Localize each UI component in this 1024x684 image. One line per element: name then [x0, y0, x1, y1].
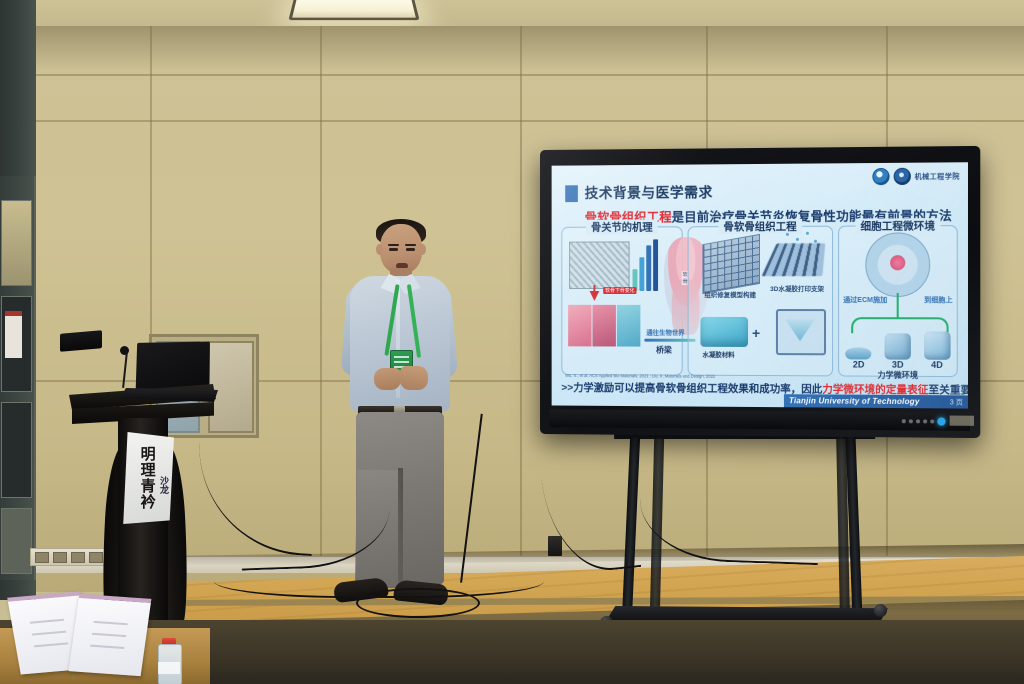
display-button[interactable] — [909, 419, 913, 423]
power-socket[interactable] — [35, 552, 49, 563]
ear — [419, 244, 426, 255]
display-control-buttons[interactable] — [902, 417, 946, 425]
eye — [406, 248, 415, 251]
badge-text-line — [394, 356, 409, 358]
printed-scaffold — [762, 243, 826, 276]
school-emblem-icon — [893, 168, 910, 185]
slide-title: 技术背景与医学需求 — [585, 182, 713, 203]
bar-chart-mini — [633, 239, 659, 291]
power-socket[interactable] — [53, 552, 67, 563]
power-indicator-icon[interactable] — [937, 417, 945, 425]
university-name: Tianjin University of Technology — [789, 396, 920, 406]
particle — [786, 233, 789, 236]
scaffold-lattice — [702, 234, 760, 294]
bar — [653, 239, 658, 291]
slide-footnote: Wu, X., et al. ACS Applied Bio Materials… — [565, 373, 715, 379]
eye — [389, 248, 398, 251]
stained-section-row — [568, 305, 640, 347]
plaque-sub-text: 沙龙 — [158, 476, 171, 494]
presenter — [336, 222, 460, 620]
bridge-top-label: 通往生物世界 — [646, 327, 684, 337]
card-text-line — [32, 631, 66, 636]
ear — [376, 244, 383, 255]
display-brand-label — [950, 416, 975, 426]
stained-section — [617, 305, 641, 347]
microenvironment-caption: 力学微环境 — [839, 369, 957, 381]
card-text-line — [92, 633, 126, 637]
panel-cell-microenvironment: 细胞工程微环境 通过ECM施加 到细胞上 — [838, 225, 958, 377]
title-accent-swatch — [565, 185, 578, 202]
panel-heading: 骨关节的机理 — [586, 219, 657, 234]
ecm-right-label: 到细胞上 — [924, 295, 953, 305]
shirt-torso — [350, 276, 450, 412]
hydrogel-block — [700, 317, 748, 347]
wall-shadow — [36, 26, 1024, 72]
hydrogel-caption: 水凝胶材料 — [702, 349, 734, 359]
ceiling-light-panel — [288, 0, 419, 20]
dimension-label-2d: 2D — [853, 359, 865, 369]
shelving-unit — [0, 176, 36, 580]
panel-tissue-engineering: 骨软骨组织工程 组织修复模型构建 3D水凝胶打印支架 — [688, 226, 833, 377]
dimension-label-3d: 3D — [892, 360, 904, 370]
particle — [806, 232, 809, 235]
eyebrow — [405, 244, 416, 246]
plus-sign: + — [752, 325, 760, 341]
university-emblem-icon — [872, 168, 889, 185]
cart-caster — [874, 604, 887, 617]
subchondral-bone-tag: 软骨下骨变化 — [603, 287, 636, 294]
conclusion-marker: >> — [561, 381, 573, 393]
cell-diagram-circle — [865, 232, 930, 297]
bar — [639, 257, 644, 291]
leg-separation-shadow — [398, 468, 403, 584]
presentation-slide: 机械工程学院 技术背景与医学需求 骨软骨组织工程是目前治疗骨关节炎恢复骨性功能最… — [552, 162, 968, 408]
display-button[interactable] — [916, 419, 920, 423]
slide-logos: 机械工程学院 — [872, 167, 960, 185]
panel-joint-mechanism: 骨关节的机理 软骨 软骨下骨变化 — [561, 226, 682, 375]
name-card — [69, 594, 152, 676]
right-hand — [400, 366, 428, 390]
slide-title-group: 技术背景与医学需求 — [565, 182, 713, 203]
panel-heading: 细胞工程微环境 — [856, 218, 941, 233]
badge-text-line — [394, 361, 409, 363]
cell-nucleus — [890, 255, 905, 270]
display-button[interactable] — [930, 419, 934, 423]
slide-footer-bar: Tianjin University of Technology 3 页 — [784, 394, 968, 408]
culture-dimension-row — [839, 331, 957, 360]
printer-nozzle — [785, 319, 815, 341]
shelf-compartment — [1, 200, 32, 286]
cell-2d-model — [846, 347, 872, 359]
left-shoe — [333, 577, 389, 603]
cell-4d-model — [924, 331, 951, 359]
wall-seam — [36, 74, 1024, 76]
podium-plaque: 明理青衿 沙龙 — [120, 432, 174, 524]
wall-seam — [320, 26, 322, 566]
shelf-compartment — [1, 402, 32, 498]
particle — [796, 238, 799, 241]
school-name-label: 机械工程学院 — [915, 171, 960, 181]
dimension-label-4d: 4D — [931, 360, 943, 370]
bottle-label — [158, 662, 180, 674]
bioprinter-illustration — [776, 309, 826, 355]
wall-seam — [36, 120, 1024, 122]
display-monitor[interactable]: 机械工程学院 技术背景与医学需求 骨软骨组织工程是目前治疗骨关节炎恢复骨性功能最… — [540, 146, 980, 438]
shelf-compartment — [1, 508, 32, 574]
display-button[interactable] — [902, 419, 906, 423]
slide-panels: 骨关节的机理 软骨 软骨下骨变化 — [561, 225, 957, 377]
bar — [646, 245, 651, 291]
left-leg — [355, 470, 401, 589]
wall-speaker — [60, 330, 102, 352]
eyebrow — [388, 244, 399, 246]
ecm-left-label: 通过ECM施加 — [843, 295, 887, 305]
down-arrow-icon — [590, 291, 600, 301]
scaffold-caption: 组织修复模型构建 — [700, 289, 760, 299]
slide-page-number: 3 页 — [950, 397, 963, 407]
histology-micrograph — [569, 241, 629, 289]
bridge-bottom-label: 桥梁 — [656, 345, 672, 356]
card-text-line — [90, 645, 124, 649]
shelf-document — [5, 311, 22, 358]
microphone-icon — [120, 346, 129, 355]
cell-3d-model — [885, 333, 911, 359]
display-screen: 机械工程学院 技术背景与医学需求 骨软骨组织工程是目前治疗骨关节炎恢复骨性功能最… — [552, 162, 968, 408]
presentation-photo-scene: 机械工程学院 技术背景与医学需求 骨软骨组织工程是目前治疗骨关节炎恢复骨性功能最… — [0, 0, 1024, 684]
floor-power-box — [548, 536, 562, 556]
card-text-line — [94, 621, 128, 625]
left-hand — [374, 368, 401, 390]
right-shoe — [393, 579, 449, 606]
green-connector-stem — [897, 293, 899, 319]
card-text-line — [34, 642, 68, 647]
laptop-screen[interactable] — [136, 342, 210, 393]
stained-section — [568, 305, 591, 347]
print-caption: 3D水凝胶打印支架 — [766, 283, 828, 293]
display-button[interactable] — [923, 419, 927, 423]
plaque-main-text: 明理青衿 — [139, 446, 154, 510]
stained-section — [592, 305, 615, 347]
wall-seam — [520, 26, 522, 566]
dimension-labels: 2D 3D 4D — [839, 359, 957, 370]
card-text-line — [30, 619, 64, 624]
